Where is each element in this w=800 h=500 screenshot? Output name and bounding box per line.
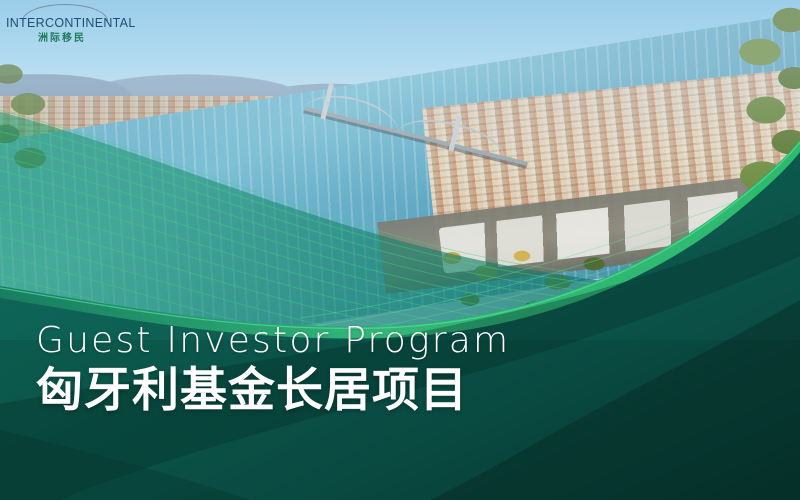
- title-english: Guest Investor Program: [36, 322, 736, 360]
- background-photo: [0, 0, 800, 500]
- logo-wordmark: INTERCONTINENTAL: [6, 16, 118, 30]
- logo[interactable]: INTERCONTINENTAL 洲际移民: [6, 4, 118, 40]
- hero-banner: INTERCONTINENTAL 洲际移民 Guest Investor Pro…: [0, 0, 800, 500]
- left-edge-foliage: [0, 60, 64, 170]
- right-edge-foliage: [690, 0, 800, 300]
- logo-chinese-name: 洲际移民: [6, 29, 118, 44]
- title-block: Guest Investor Program 匈牙利基金长居项目: [36, 322, 736, 417]
- title-chinese: 匈牙利基金长居项目: [36, 366, 736, 417]
- bridge-cable-left: [304, 87, 403, 134]
- foreground-autumn-foliage: [430, 238, 630, 328]
